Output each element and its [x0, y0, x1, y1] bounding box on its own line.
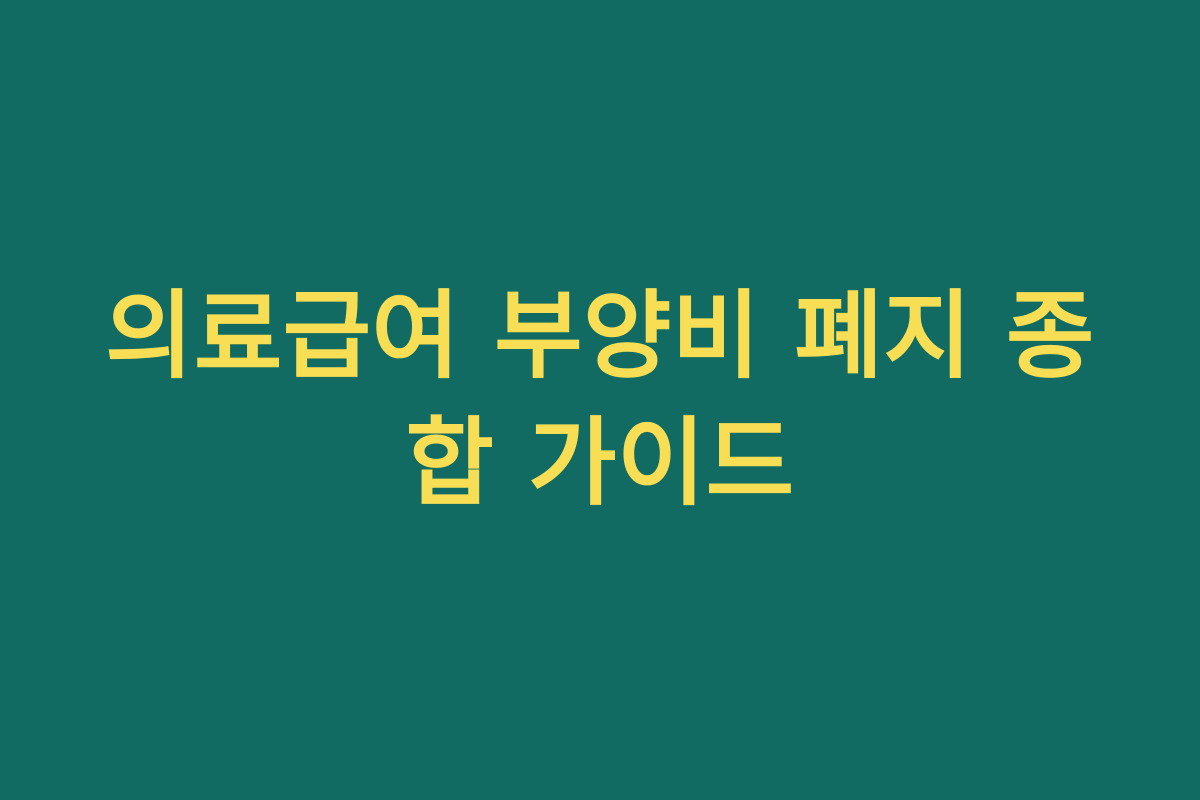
page-title: 의료급여 부양비 폐지 종합 가이드: [88, 273, 1112, 526]
title-block: 의료급여 부양비 폐지 종합 가이드: [80, 273, 1120, 526]
og-image-card: 의료급여 부양비 폐지 종합 가이드: [0, 0, 1200, 800]
